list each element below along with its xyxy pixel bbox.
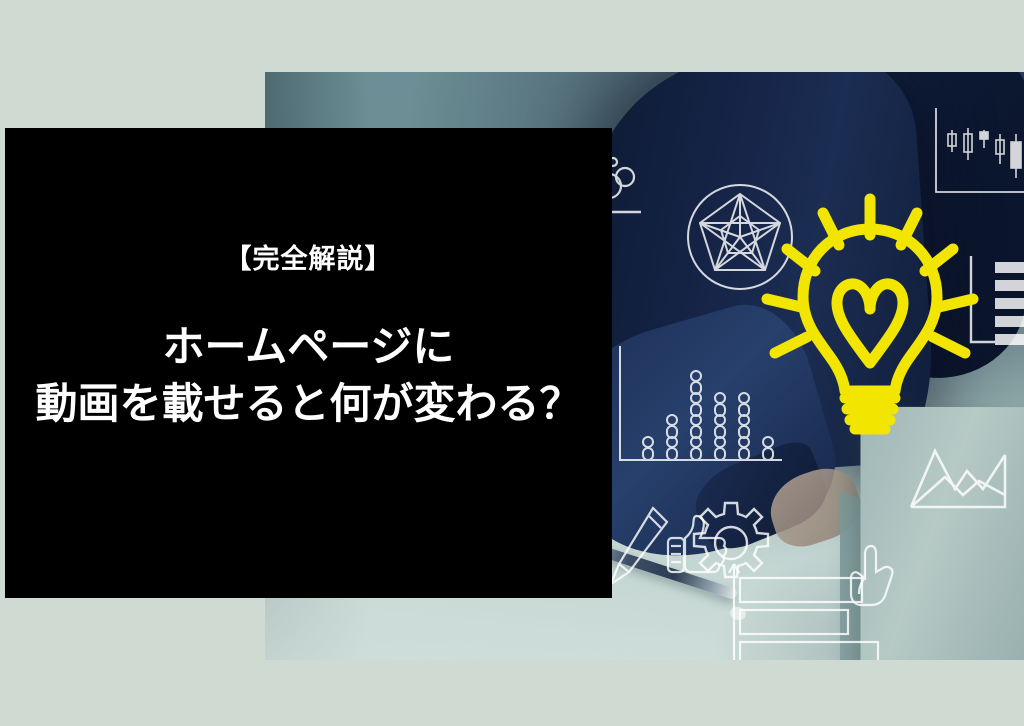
- eyebrow-label: 【完全解説】: [225, 243, 393, 275]
- poster-canvas: 【完全解説】 ホームページに 動画を載せると何が変わる？: [0, 0, 1024, 726]
- lightbulb-heart-icon: [745, 177, 995, 437]
- title-card: 【完全解説】 ホームページに 動画を載せると何が変わる？: [5, 128, 612, 598]
- pointing-hand-icon: [845, 542, 901, 608]
- page-title: ホームページに 動画を載せると何が変わる？: [35, 319, 581, 432]
- area-line-chart-icon: [905, 437, 1015, 517]
